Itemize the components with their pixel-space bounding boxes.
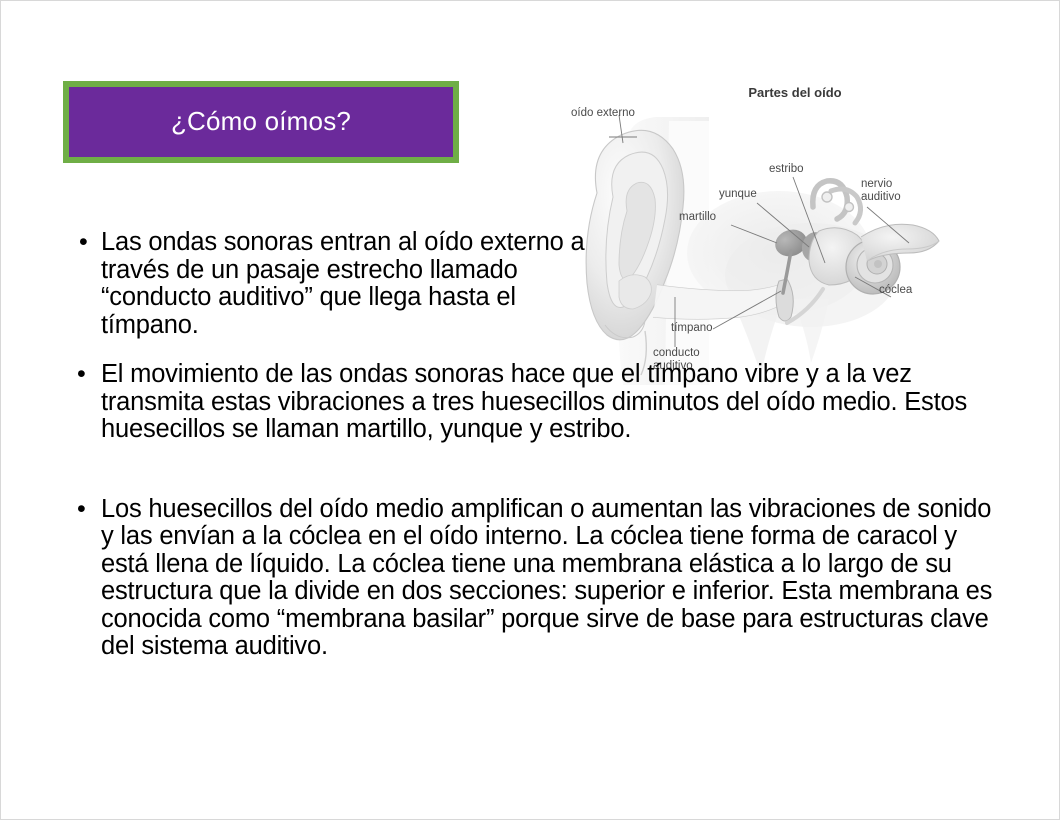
bullet-item: • El movimiento de las ondas sonoras hac… (63, 361, 1001, 444)
bullet-item: • Las ondas sonoras entran al oído exter… (63, 229, 601, 339)
diagram-label-nervio-auditivo: nervio auditivo (861, 178, 901, 204)
bullet-text: Los huesecillos del oído medio amplifica… (101, 495, 992, 661)
bullet-marker: • (77, 361, 86, 388)
slide: ¿Cómo oímos? Partes del oído (0, 0, 1060, 820)
bullet-marker: • (79, 229, 88, 256)
slide-title-box: ¿Cómo oímos? (63, 81, 459, 163)
diagram-label-yunque: yunque (719, 188, 757, 201)
page-title: ¿Cómo oímos? (171, 107, 351, 138)
bullet-item: • Los huesecillos del oído medio amplifi… (63, 496, 1001, 661)
bullet-marker: • (77, 496, 86, 523)
diagram-label-estribo: estribo (769, 163, 804, 176)
bullet-text: El movimiento de las ondas sonoras hace … (101, 360, 967, 443)
diagram-label-martillo: martillo (679, 211, 716, 224)
bullet-text: Las ondas sonoras entran al oído externo… (101, 228, 585, 339)
slide-body: • Las ondas sonoras entran al oído exter… (63, 229, 983, 661)
diagram-label-oido-externo: oído externo (571, 107, 635, 120)
